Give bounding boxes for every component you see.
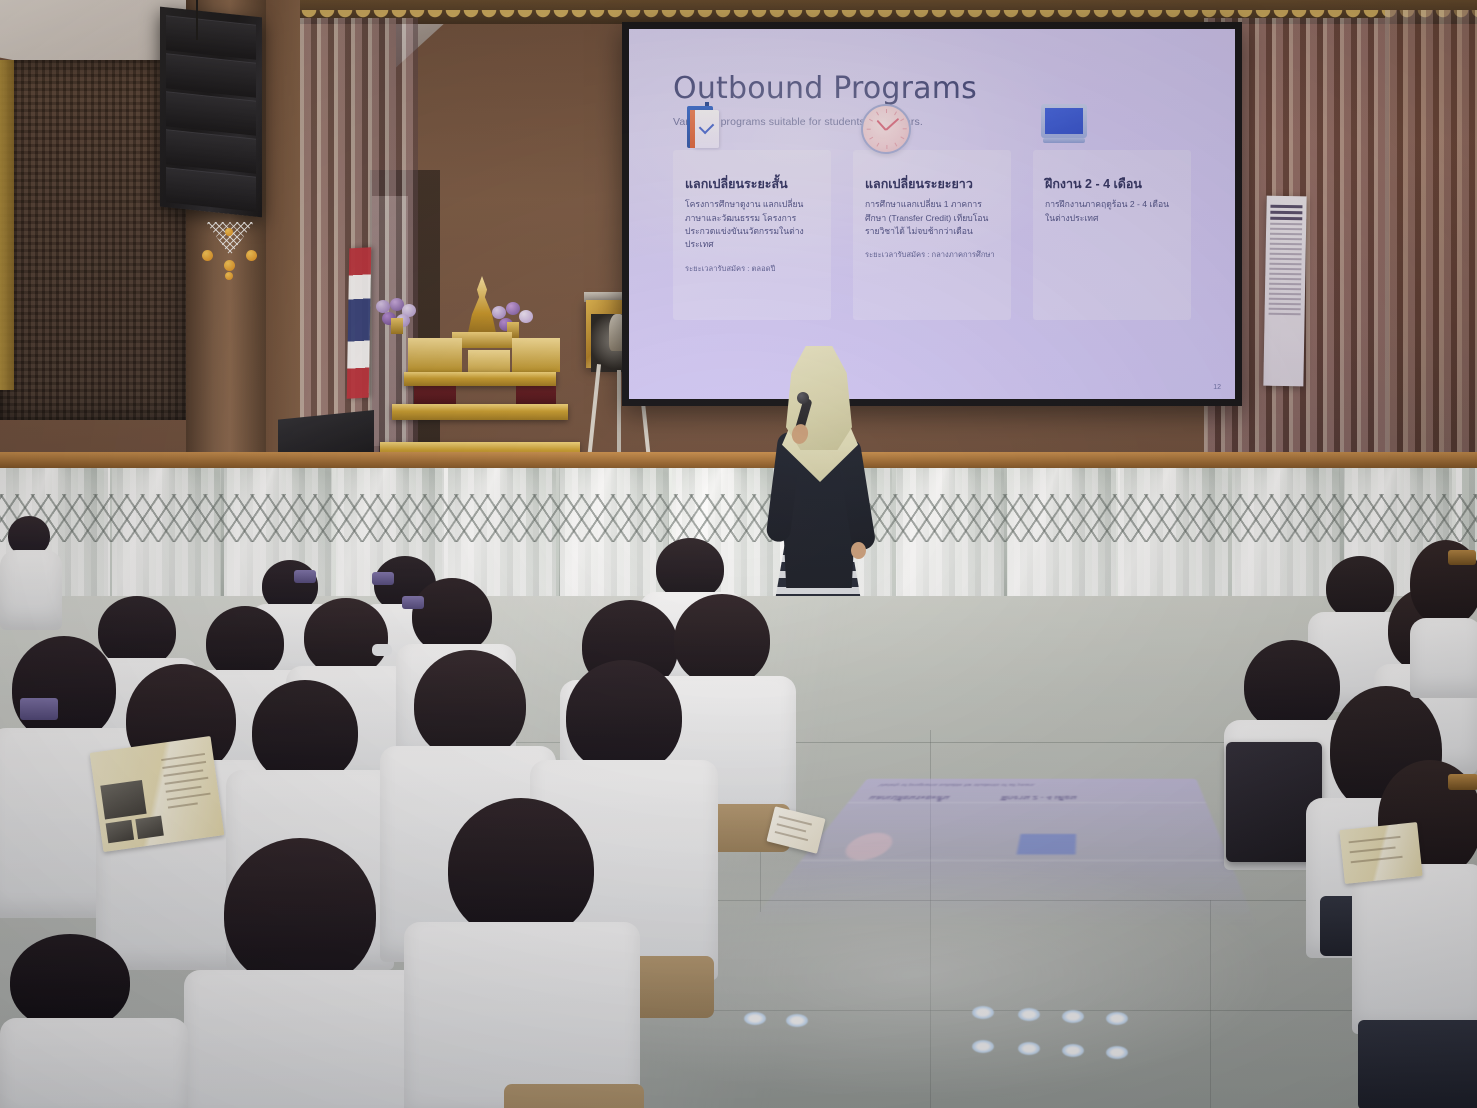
- card-body: โครงการศึกษาดูงาน แลกเปลี่ยนภาษาและวัฒนธ…: [685, 198, 819, 251]
- list-item: [0, 934, 180, 1108]
- list-item: [184, 838, 414, 1108]
- card-heading: แลกเปลี่ยนระยะยาว: [865, 176, 999, 192]
- presenter-right-hand: [851, 542, 866, 559]
- list-item: [404, 798, 630, 1108]
- thai-flag: [347, 247, 372, 398]
- line-array-speaker: [160, 7, 262, 218]
- card-body: การฝึกงานภาคฤดูร้อน 2 - 4 เดือน ในต่างปร…: [1045, 198, 1179, 225]
- clock-icon: [861, 104, 917, 152]
- card-heading: ฝึกงาน 2 - 4 เดือน: [1045, 176, 1179, 192]
- speaker-cable: [196, 0, 198, 40]
- list-item: [0, 516, 60, 626]
- slide-page-number: 12: [1213, 384, 1221, 391]
- woven-wall-panel: [0, 60, 186, 420]
- stage-curtain-far-right: [1385, 10, 1477, 480]
- brochure: [90, 736, 225, 852]
- flower-arrangement-right: [490, 302, 536, 336]
- program-cards: แลกเปลี่ยนระยะสั้น โครงการศึกษาดูงาน แลก…: [673, 150, 1191, 320]
- program-card: แลกเปลี่ยนระยะยาว การศึกษาแลกเปลี่ยน 1 ภ…: [853, 150, 1011, 320]
- microphone-head: [797, 392, 809, 404]
- program-card: แลกเปลี่ยนระยะสั้น โครงการศึกษาดูงาน แลก…: [673, 150, 831, 320]
- list-item: [1352, 760, 1477, 1108]
- flower-arrangement-left: [374, 298, 420, 332]
- card-heading: แลกเปลี่ยนระยะสั้น: [685, 176, 819, 192]
- monitor-icon: [1041, 104, 1097, 152]
- list-item: [1410, 540, 1477, 680]
- marigold-garland: [200, 222, 260, 280]
- card-footer: ระยะเวลารับสมัคร : กลางภาคการศึกษา: [865, 250, 999, 261]
- slide-title: Outbound Programs: [673, 71, 1191, 106]
- auditorium-photo: Outbound Programs Variety of programs su…: [0, 0, 1477, 1108]
- golden-thai-altar: [380, 232, 580, 460]
- gold-panel-frame: [0, 60, 14, 390]
- projection-screen: Outbound Programs Variety of programs su…: [622, 22, 1242, 406]
- card-footer: ระยะเวลารับสมัคร : ตลอดปี: [685, 264, 819, 275]
- calendar-check-icon: [681, 104, 737, 152]
- slide-subtitle: Variety of programs suitable for student…: [673, 116, 1191, 128]
- program-card: ฝึกงาน 2 - 4 เดือน การฝึกงานภาคฤดูร้อน 2…: [1033, 150, 1191, 320]
- wall-poster: [1263, 196, 1306, 387]
- brochure: [1339, 822, 1422, 884]
- slide-content: Outbound Programs Variety of programs su…: [629, 29, 1235, 399]
- card-body: การศึกษาแลกเปลี่ยน 1 ภาคการศึกษา (Transf…: [865, 198, 999, 238]
